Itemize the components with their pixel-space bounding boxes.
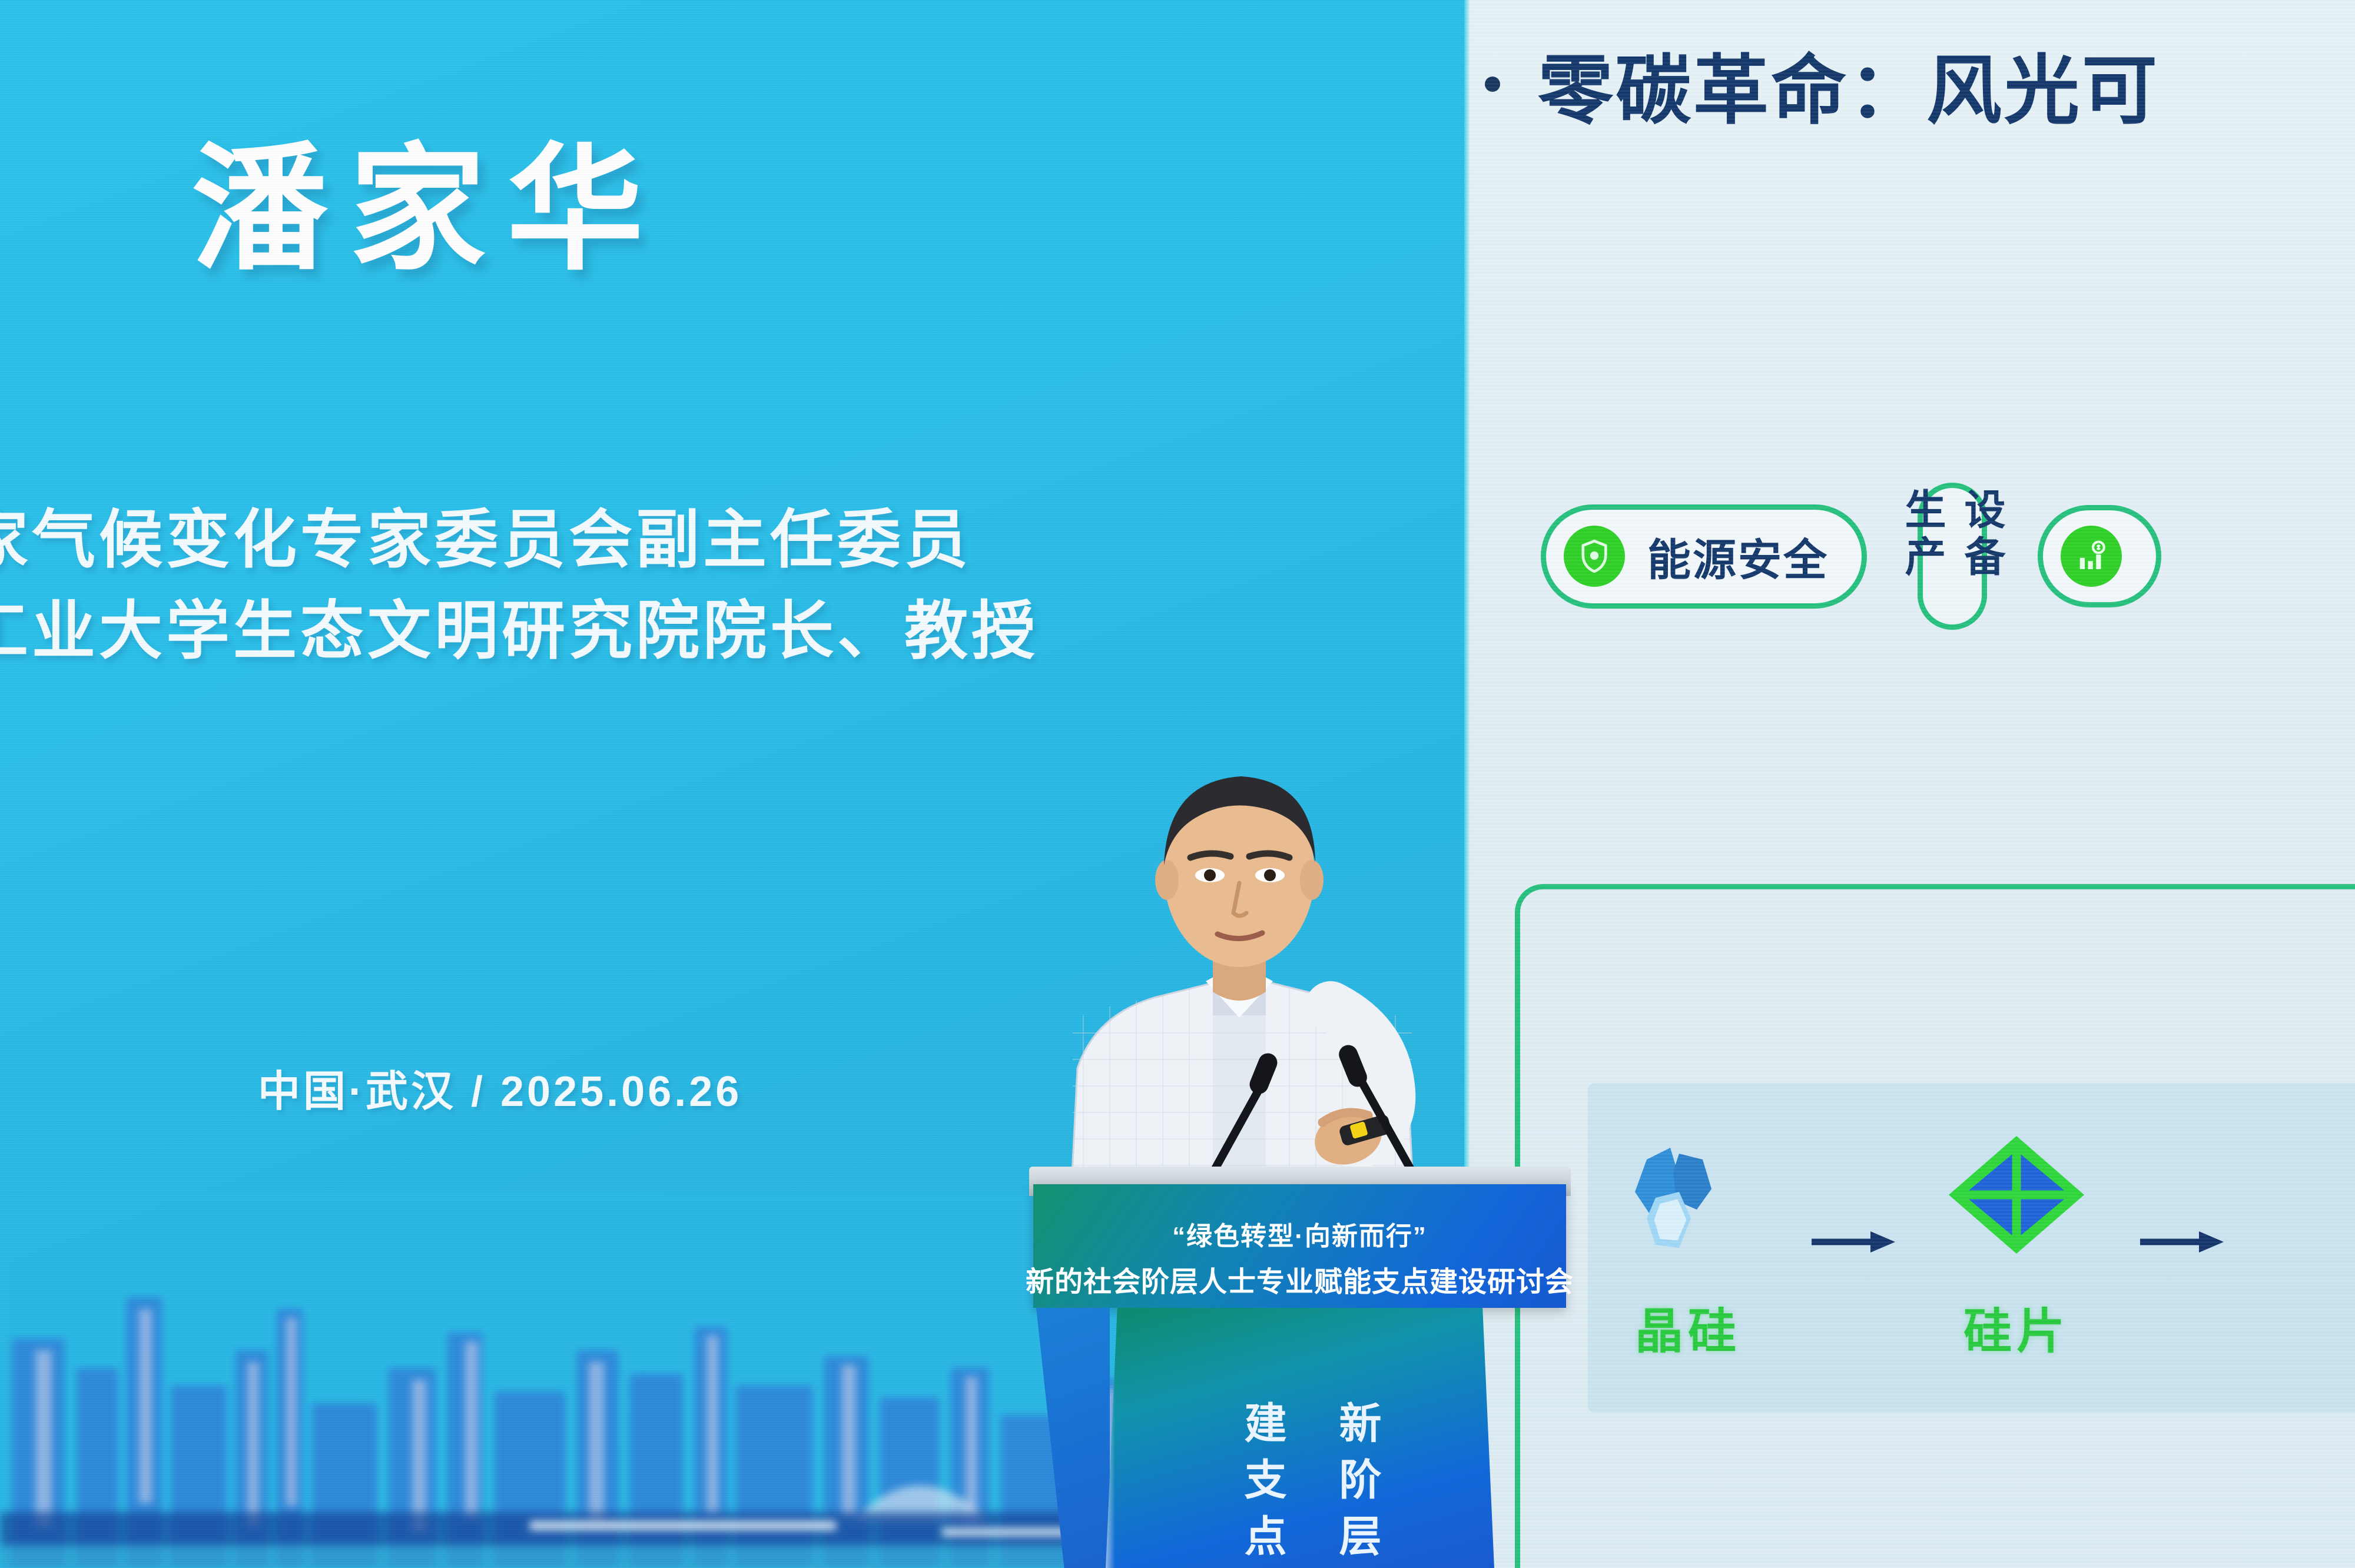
projected-slide: 零碳革命：风光可 能源安全 设备生产 xyxy=(1464,0,2355,1568)
location-date: 中国·武汉 / 2025.06.26 xyxy=(258,1057,742,1118)
podium-slogan-column-left: 建支点立 xyxy=(1230,1401,1292,1568)
badge-equipment-production: 设备生产 xyxy=(1918,483,1987,630)
arrow-right-icon-2 xyxy=(2137,1225,2225,1258)
flow-step-label: 晶硅 xyxy=(1635,1292,1741,1362)
badge-label-vertical: 设备生产 xyxy=(1893,488,2012,624)
podium-sign-line-1: “绿色转型·向新而行” xyxy=(1172,1215,1427,1253)
bullet-dot-icon xyxy=(1485,77,1500,92)
podium-sign-panel: “绿色转型·向新而行” 新的社会阶层人士专业赋能支点建设研讨会 xyxy=(1033,1184,1566,1308)
silicon-wafer-icon xyxy=(1943,1121,2090,1268)
podium-slogan-column-right: 新阶层新 xyxy=(1325,1401,1387,1568)
podium-sign-line-2: 新的社会阶层人士专业赋能支点建设研讨会 xyxy=(1026,1258,1574,1300)
badge-label: 能源安全 xyxy=(1647,525,1829,588)
speaker-title-line-2: 工业大学生态文明研究院院长、教授 xyxy=(0,580,1039,672)
bar-chart-money-icon xyxy=(2061,526,2122,587)
speaker-title-line-1: 家气候变化专家委员会副主任委员 xyxy=(0,489,971,580)
flow-step-silicon: 晶硅 xyxy=(1611,1121,1764,1362)
arrow-right-icon xyxy=(1808,1225,1896,1258)
slide-bullet-text: 零碳革命：风光可 xyxy=(1538,29,2160,138)
badge-row: 能源安全 设备生产 xyxy=(1541,483,2161,630)
shield-icon xyxy=(1564,526,1625,587)
speaker-name: 潘家华 xyxy=(191,138,665,282)
flow-step-wafer: 硅片 xyxy=(1940,1121,2093,1362)
silicon-rocks-icon xyxy=(1614,1121,1762,1268)
podium-vertical-slogan: 建支点立 新阶层新 xyxy=(1230,1401,1387,1568)
badge-third-clipped xyxy=(2038,505,2161,607)
slide-bullet-line: 零碳革命：风光可 xyxy=(1485,29,2160,138)
flow-step-label: 硅片 xyxy=(1963,1292,2069,1362)
silicon-process-flow: 晶硅 硅片 xyxy=(1611,1121,2225,1362)
stage-photo: 潘家华 家气候变化专家委员会副主任委员 工业大学生态文明研究院院长、教授 中国·… xyxy=(0,0,2355,1568)
badge-energy-security: 能源安全 xyxy=(1541,504,1867,609)
